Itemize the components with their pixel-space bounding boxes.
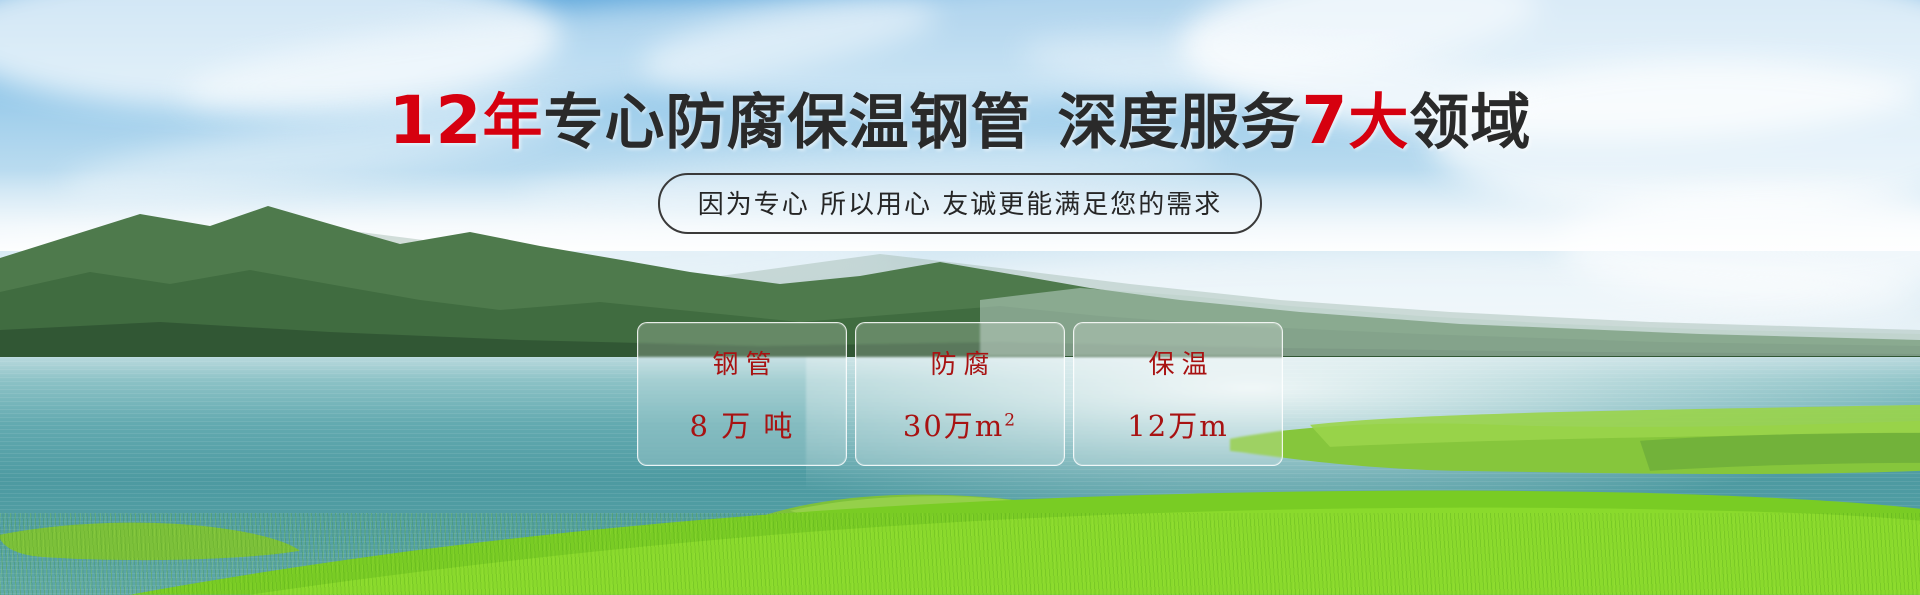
stat-card-value: 12万m bbox=[1127, 403, 1228, 445]
stat-card[interactable]: 防腐 30万m2 bbox=[855, 322, 1065, 466]
stat-card[interactable]: 保温 12万m bbox=[1073, 322, 1283, 466]
hero-banner: 12年专心防腐保温钢管深度服务7大领域 因为专心 所以用心 友诚更能满足您的需求… bbox=[0, 0, 1920, 595]
stat-cards: 钢管 8 万 吨 防腐 30万m2 保温 12万m bbox=[0, 322, 1920, 466]
stat-card-value-superscript: 2 bbox=[1004, 410, 1017, 430]
stat-card-value: 8 万 吨 bbox=[690, 403, 795, 445]
stat-card[interactable]: 钢管 8 万 吨 bbox=[637, 322, 847, 466]
stat-card-value: 30万m2 bbox=[903, 403, 1017, 445]
stat-card-label: 钢管 bbox=[705, 344, 778, 381]
stat-card-value-text: 30万m bbox=[903, 409, 1004, 443]
stat-card-label: 防腐 bbox=[923, 344, 996, 381]
stat-card-value-text: 8 万 吨 bbox=[690, 409, 795, 443]
stat-card-value-text: 12万m bbox=[1127, 409, 1228, 443]
stat-card-label: 保温 bbox=[1141, 344, 1214, 381]
